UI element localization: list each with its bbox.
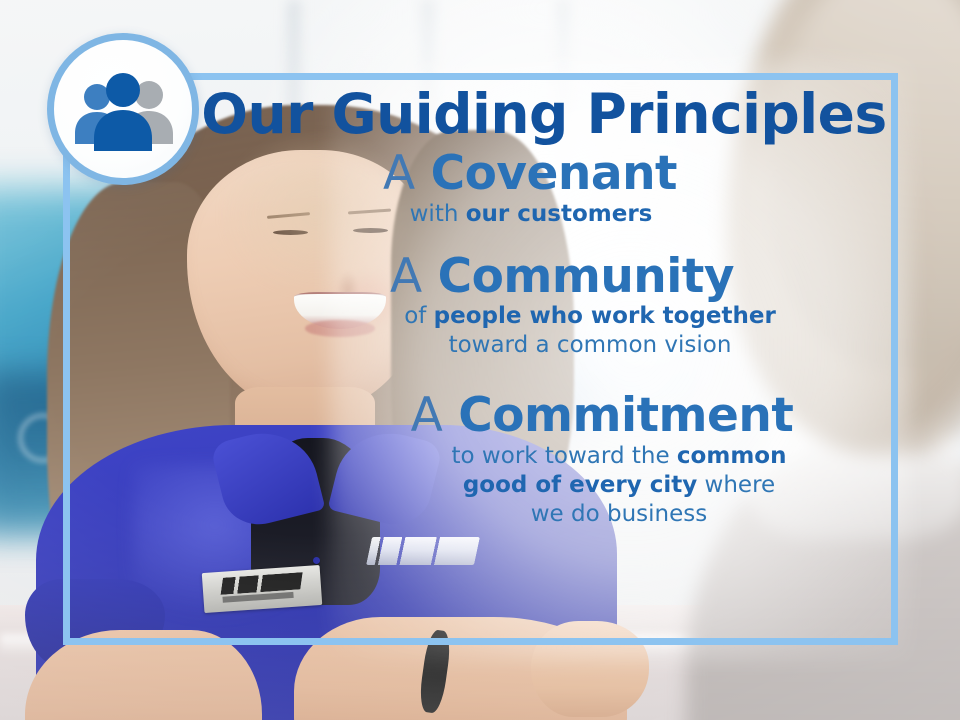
principle-commitment-word: Commitment bbox=[458, 388, 793, 443]
principle-community-subtext: of people who work togethertoward a comm… bbox=[200, 302, 888, 360]
principle-covenant-heading: A Covenant bbox=[200, 148, 888, 200]
copy-block: Our Guiding Principles A Covenant with o… bbox=[200, 86, 888, 529]
principle-community-heading: A Community bbox=[200, 251, 888, 303]
people-group-icon bbox=[69, 73, 177, 151]
principle-covenant: A Covenant with our customers bbox=[200, 148, 888, 229]
flow-chest-logo bbox=[366, 537, 480, 565]
principle-commitment-article: A bbox=[411, 388, 444, 443]
name-badge-brand-text bbox=[220, 572, 303, 594]
name-badge-sub-text bbox=[222, 593, 293, 603]
subject-hands bbox=[531, 621, 649, 717]
principle-covenant-subtext: with our customers bbox=[200, 200, 888, 229]
principle-community-article: A bbox=[390, 249, 423, 304]
subject-shirt-button bbox=[313, 557, 320, 564]
guiding-principles-graphic: Our Guiding Principles A Covenant with o… bbox=[0, 0, 960, 720]
principle-covenant-word: Covenant bbox=[431, 146, 677, 201]
principle-community: A Community of people who work togethert… bbox=[200, 251, 888, 361]
principle-commitment-heading: A Commitment bbox=[200, 390, 888, 442]
principle-commitment: A Commitment to work toward the commongo… bbox=[200, 390, 888, 529]
principle-commitment-subtext: to work toward the commongood of every c… bbox=[200, 442, 888, 529]
principle-community-word: Community bbox=[438, 249, 734, 304]
principle-covenant-article: A bbox=[383, 146, 416, 201]
people-badge-circle bbox=[47, 33, 199, 185]
page-title: Our Guiding Principles bbox=[200, 86, 888, 142]
